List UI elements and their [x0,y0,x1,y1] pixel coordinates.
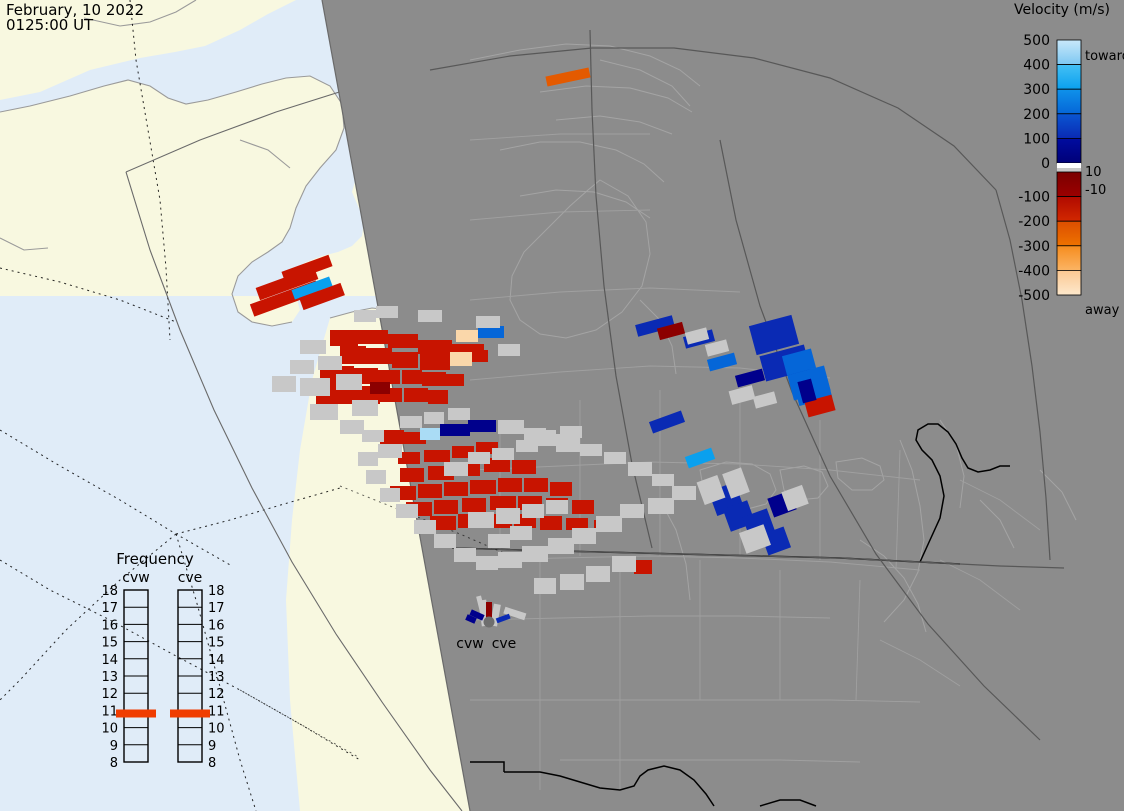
velocity-cell [456,330,478,342]
colorbar-neg-threshold: -10 [1085,183,1106,198]
colorbar-band-toward-4 [1057,138,1081,163]
velocity-cell [424,450,450,462]
velocity-cell [392,352,418,368]
colorbar-band-away-1 [1057,197,1081,222]
colorbar-band-away-3 [1057,246,1081,271]
velocity-cell [450,352,472,366]
velocity-cell [470,480,496,494]
velocity-cell [498,478,522,492]
colorbar-tick-5: 0 [1041,156,1050,172]
frequency-tick-cve-3: 15 [208,636,225,651]
site-label-cve: cve [492,636,517,652]
frequency-tick-cve-5: 13 [208,670,225,685]
colorbar-band-away-2 [1057,221,1081,246]
velocity-cell [400,468,424,482]
velocity-cell [404,388,428,402]
velocity-cell [444,482,468,496]
frequency-tick-cvw-4: 14 [101,653,118,668]
frequency-column-label-cvw: cvw [122,570,149,586]
velocity-cell [572,500,594,514]
colorbar-pos-threshold: 10 [1085,165,1102,180]
colorbar-swatches [1057,40,1081,295]
frequency-tick-cvw-3: 15 [101,636,118,651]
frequency-tick-cvw-0: 18 [101,584,118,599]
frequency-legend-title: Frequency [116,550,194,568]
frequency-tick-cvw-7: 11 [101,704,118,719]
frequency-tick-cvw-8: 10 [101,722,118,737]
frequency-tick-cve-6: 12 [208,687,225,702]
colorbar-band-away-0 [1057,172,1081,197]
colorbar-tick-8: -300 [1018,239,1050,255]
frequency-tick-cve-7: 11 [208,704,225,719]
map-canvas: cvw cve February, 10 2022 0125:00 UT Vel… [0,0,1124,811]
frequency-tick-cvw-9: 9 [110,739,118,754]
velocity-cell [550,482,572,496]
velocity-cell [402,370,422,384]
velocity-cell [366,348,392,364]
colorbar-band-away-4 [1057,270,1081,295]
time-label: 0125:00 UT [6,16,94,34]
velocity-cell [340,346,366,364]
velocity-cell [418,484,442,498]
colorbar-toward-label: toward [1085,49,1124,64]
colorbar-zero-white [1057,163,1081,168]
velocity-cell [468,420,496,432]
frequency-tick-cvw-6: 12 [101,687,118,702]
velocity-cell [434,500,458,514]
velocity-cell [462,498,486,512]
velocity-cell [428,390,448,404]
velocity-cell [634,560,652,574]
frequency-tick-cve-1: 17 [208,601,225,616]
velocity-cell [540,516,562,530]
colorbar-tick-1: 400 [1023,58,1050,74]
site-label-cvw: cvw [456,636,483,652]
colorbar-tick-7: -200 [1018,214,1050,230]
frequency-tick-cvw-2: 16 [101,618,118,633]
velocity-cell [422,372,446,386]
frequency-tick-cve-9: 9 [208,739,216,754]
velocity-cell [446,374,464,386]
velocity-cell [418,340,452,354]
frequency-tick-cve-0: 18 [208,584,225,599]
velocity-cell [472,350,488,362]
frequency-tick-cvw-10: 8 [110,756,118,771]
frequency-tick-cve-4: 14 [208,653,225,668]
frequency-column-label-cve: cve [178,570,203,586]
colorbar-tick-10: -500 [1018,288,1050,304]
velocity-cell [490,496,516,510]
frequency-tick-cvw-5: 13 [101,670,118,685]
colorbar-away-label: away [1085,303,1120,318]
colorbar-title: Velocity (m/s) [1014,2,1110,18]
velocity-cell [370,382,390,394]
frequency-marker-cve [170,709,210,717]
velocity-cell [440,424,470,436]
frequency-tick-cvw-1: 17 [101,601,118,616]
velocity-cell [358,330,388,344]
velocity-cell [524,478,548,492]
colorbar-band-toward-0 [1057,40,1081,65]
colorbar-tick-4: 100 [1023,131,1050,147]
station-dot [484,617,495,628]
colorbar-zero-gray [1057,168,1081,172]
frequency-tick-cve-8: 10 [208,722,225,737]
frequency-marker-cvw [116,709,156,717]
velocity-cell [512,460,536,474]
colorbar-tick-0: 500 [1023,33,1050,49]
frequency-tick-cve-10: 8 [208,756,216,771]
radar-map-visualization: cvw cve February, 10 2022 0125:00 UT Vel… [0,0,1124,811]
colorbar-tick-3: 200 [1023,107,1050,123]
colorbar-tick-6: -100 [1018,190,1050,206]
colorbar-band-toward-1 [1057,65,1081,90]
velocity-cell [388,334,418,348]
colorbar-tick-2: 300 [1023,82,1050,98]
colorbar-band-toward-2 [1057,89,1081,114]
velocity-cell [420,428,440,440]
frequency-tick-cve-2: 16 [208,618,225,633]
colorbar-tick-9: -400 [1018,263,1050,279]
colorbar-band-toward-3 [1057,114,1081,139]
velocity-cell [420,354,450,370]
velocity-cell [330,330,358,346]
velocity-cell [378,370,400,384]
